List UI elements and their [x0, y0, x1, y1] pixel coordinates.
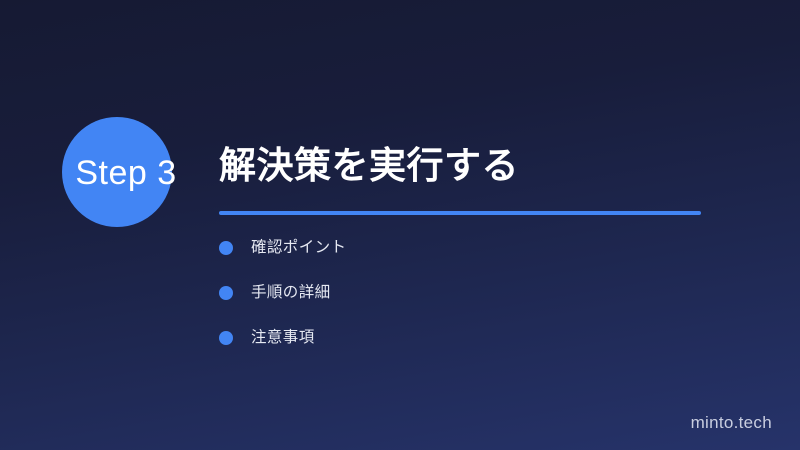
- list-item: 手順の詳細: [219, 278, 699, 308]
- bullet-dot-icon: [219, 331, 233, 345]
- watermark-brand: minto.tech: [691, 412, 772, 434]
- list-item-label: 確認ポイント: [251, 237, 346, 259]
- bullet-dot-icon: [219, 241, 233, 255]
- list-item: 確認ポイント: [219, 233, 699, 263]
- slide-title: 解決策を実行する: [219, 141, 519, 191]
- title-divider: [219, 211, 701, 215]
- bullet-list: 確認ポイント 手順の詳細 注意事項: [219, 233, 699, 368]
- bullet-dot-icon: [219, 286, 233, 300]
- list-item-label: 手順の詳細: [251, 282, 331, 304]
- list-item: 注意事項: [219, 323, 699, 353]
- presentation-slide: Step 3 解決策を実行する 確認ポイント 手順の詳細 注意事項 minto.…: [0, 0, 800, 450]
- list-item-label: 注意事項: [251, 327, 315, 349]
- step-badge-label: Step 3: [46, 153, 206, 193]
